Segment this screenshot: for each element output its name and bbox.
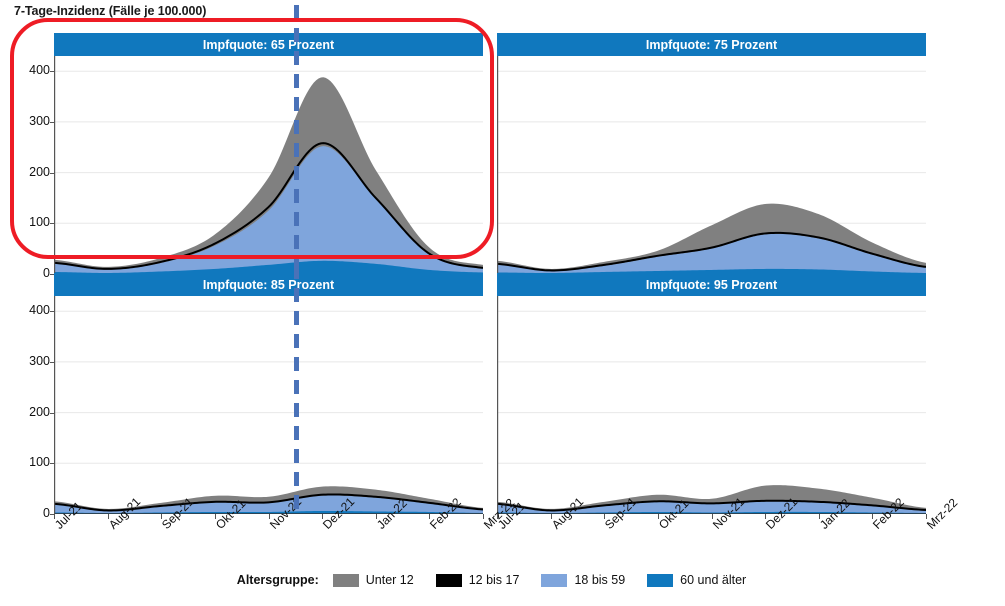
legend-item-12-bis-17: 12 bis 17 xyxy=(436,573,520,587)
y-axis-label: 0 xyxy=(12,506,50,520)
facet-svg xyxy=(497,296,926,514)
y-axis-tick xyxy=(50,274,54,275)
facet-panel-65: Impfquote: 65 Prozent xyxy=(54,33,483,274)
facet-svg xyxy=(54,56,483,274)
y-axis-label: 0 xyxy=(12,266,50,280)
y-axis-label: 100 xyxy=(12,215,50,229)
facet-panel-75: Impfquote: 75 Prozent xyxy=(497,33,926,274)
facet-header-65: Impfquote: 65 Prozent xyxy=(54,33,483,56)
y-axis-tick xyxy=(50,71,54,72)
y-axis-label: 400 xyxy=(12,303,50,317)
y-axis-tick xyxy=(50,362,54,363)
facet-svg xyxy=(497,56,926,274)
legend-swatch-18-bis-59 xyxy=(541,574,567,587)
legend-swatch-12-bis-17 xyxy=(436,574,462,587)
y-axis-tick xyxy=(50,223,54,224)
y-axis-tick xyxy=(50,463,54,464)
legend-swatch-60-und-aelter xyxy=(647,574,673,587)
legend-item-60-und-aelter: 60 und älter xyxy=(647,573,746,587)
legend-item-18-bis-59: 18 bis 59 xyxy=(541,573,625,587)
x-axis-label: Mrz-22 xyxy=(924,496,960,532)
legend-title: Altersgruppe: xyxy=(237,573,319,587)
legend-label-12-bis-17: 12 bis 17 xyxy=(469,573,520,587)
chart-root: 7-Tage-Inzidenz (Fälle je 100.000) Impfq… xyxy=(0,0,1005,606)
facet-panel-95: Impfquote: 95 Prozent xyxy=(497,273,926,514)
facet-header-75: Impfquote: 75 Prozent xyxy=(497,33,926,56)
y-axis-label: 400 xyxy=(12,63,50,77)
y-axis-tick xyxy=(50,122,54,123)
legend-label-60-und-aelter: 60 und älter xyxy=(680,573,746,587)
y-axis-label: 300 xyxy=(12,114,50,128)
legend-label-18-bis-59: 18 bis 59 xyxy=(574,573,625,587)
plot-area-65 xyxy=(54,56,483,274)
legend-label-unter-12: Unter 12 xyxy=(366,573,414,587)
legend: Altersgruppe: Unter 12 12 bis 17 18 bis … xyxy=(0,567,1005,593)
legend-item-unter-12: Unter 12 xyxy=(333,573,414,587)
page-title: 7-Tage-Inzidenz (Fälle je 100.000) xyxy=(14,4,206,18)
y-axis-tick xyxy=(50,173,54,174)
facet-header-85: Impfquote: 85 Prozent xyxy=(54,273,483,296)
y-axis-tick xyxy=(50,311,54,312)
plot-area-85 xyxy=(54,296,483,514)
facet-svg xyxy=(54,296,483,514)
plot-area-75 xyxy=(497,56,926,274)
y-axis-label: 200 xyxy=(12,405,50,419)
y-axis-tick xyxy=(50,413,54,414)
y-axis-label: 100 xyxy=(12,455,50,469)
y-axis-label: 300 xyxy=(12,354,50,368)
facet-header-95: Impfquote: 95 Prozent xyxy=(497,273,926,296)
plot-area-95 xyxy=(497,296,926,514)
y-axis-label: 200 xyxy=(12,165,50,179)
legend-swatch-unter-12 xyxy=(333,574,359,587)
facet-panel-85: Impfquote: 85 Prozent xyxy=(54,273,483,514)
